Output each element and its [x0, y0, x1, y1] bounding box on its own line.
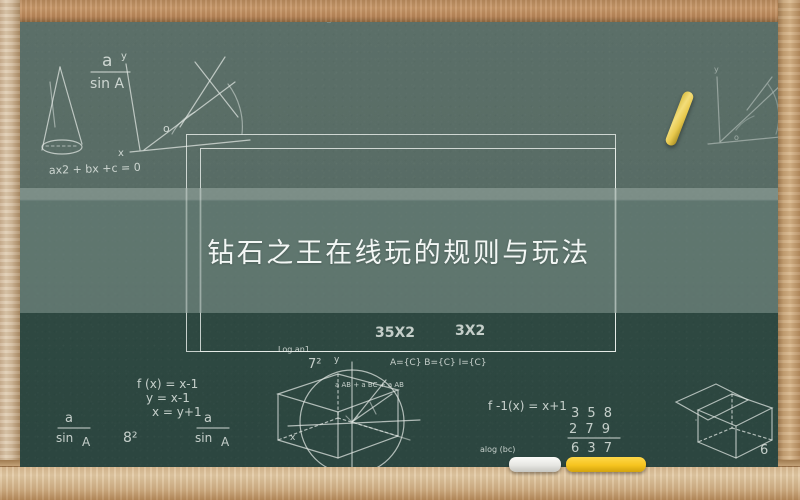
svg-text:sin: sin	[56, 431, 73, 445]
label-7-squared: 7²	[308, 357, 321, 372]
svg-text:y: y	[121, 51, 127, 62]
function-equations: f (x) = x-1 y = x-1 x = y+1	[137, 377, 202, 419]
svg-text:y = x-1: y = x-1	[146, 391, 190, 405]
eq-small-abc: a AB + a BC + a AB	[335, 381, 404, 389]
svg-text:6 3 7: 6 3 7	[571, 441, 614, 456]
set-notation: A={C} B={C} I={C}	[390, 358, 487, 368]
cone-drawing	[42, 67, 82, 154]
formula-quadratic: ax2 + bx +c = 0	[49, 161, 141, 177]
frame-top-rail	[0, 0, 800, 23]
svg-text:a: a	[102, 51, 112, 71]
page-title: 钻石之王在线玩的规则与玩法	[207, 231, 591, 270]
vertical-addition: 3 5 8 2 7 9 6 3 7	[568, 406, 620, 456]
svg-text:sin A: sin A	[90, 76, 125, 92]
svg-text:a: a	[65, 411, 73, 426]
chalk-piece-yellow-tray	[566, 457, 646, 472]
chalk-piece-white-tray	[509, 457, 561, 472]
frame-left-rail	[0, 0, 20, 500]
title-band: 钻石之王在线玩的规则与玩法	[20, 188, 778, 313]
label-alog-bc: alog (bc)	[480, 445, 515, 454]
label-35X2: 35X2	[375, 325, 415, 341]
svg-text:f (x) = x-1: f (x) = x-1	[137, 377, 198, 391]
svg-text:x: x	[290, 433, 296, 443]
svg-text:x: x	[118, 148, 124, 159]
svg-text:a: a	[204, 411, 212, 426]
formula-a-over-sinA-left: a sin A	[56, 411, 91, 449]
screenshot-root: a sin A ax2 + bx +c = 0 y x o	[0, 0, 800, 500]
svg-text:y: y	[714, 65, 719, 74]
svg-text:x = y+1: x = y+1	[152, 405, 202, 419]
angle-diagram-right-top: y o	[708, 65, 778, 144]
svg-text:A: A	[82, 435, 91, 449]
svg-text:3 5 8: 3 5 8	[571, 406, 614, 421]
svg-text:A: A	[221, 435, 230, 449]
svg-text:y: y	[334, 355, 340, 365]
frame-right-rail	[778, 0, 800, 500]
svg-text:sin: sin	[195, 431, 212, 445]
func-inverse: f -1(x) = x+1	[488, 399, 567, 413]
svg-text:o: o	[734, 133, 739, 142]
angle-diagram-top: y x o	[118, 51, 250, 159]
frame-bottom-rail	[0, 466, 800, 500]
label-6-right: 6	[760, 443, 768, 458]
label-3X2: 3X2	[455, 323, 485, 339]
svg-text:2 7 9: 2 7 9	[569, 422, 612, 437]
cube-drawing-lower-right	[676, 384, 748, 420]
label-log: Log an1	[278, 345, 310, 354]
label-8-squared: 8²	[123, 430, 138, 446]
svg-text:o: o	[163, 122, 170, 135]
